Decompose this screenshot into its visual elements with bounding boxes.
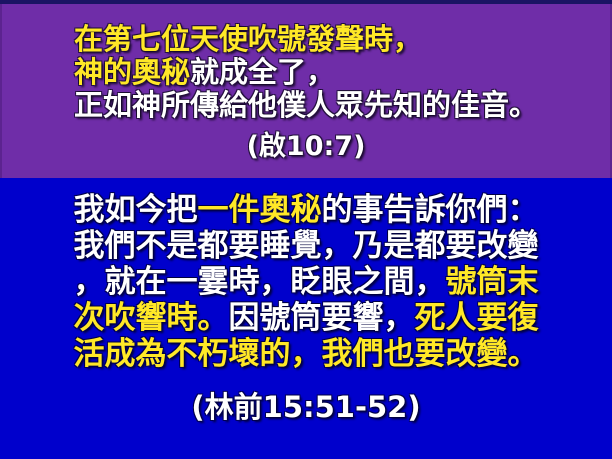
corinthians-verse-text: 我如今把一件奧秘的事告訴你們：我們不是都要睡覺，乃是都要改變，就在一霎時，眨眼之… <box>74 190 539 375</box>
corinthians-verse-segment: 一件奧秘 <box>198 192 322 228</box>
revelation-verse-line: 正如神所傳給他僕人眾先知的佳音。 <box>74 91 538 120</box>
corinthians-verse-line: 我們不是都要睡覺，乃是都要改變 <box>74 231 539 262</box>
corinthians-verse-segment: 我們不是都要睡覺，乃是都要改變 <box>74 228 539 264</box>
corinthians-verse-line: ，就在一霎時，眨眼之間，號筒末 <box>74 267 539 298</box>
corinthians-verse-segment: 活成為不朽壞的，我們也要改變。 <box>74 336 539 372</box>
revelation-verse-segment: 正如神所傳給他僕人眾先知的佳音。 <box>74 88 538 122</box>
revelation-verse-segment: 神的奧秘 <box>74 55 190 89</box>
corinthians-citation: (林前15:51-52) <box>191 393 420 422</box>
corinthians-verse-line: 活成為不朽壞的，我們也要改變。 <box>74 339 539 370</box>
revelation-verse-line: 神的奧秘就成全了， <box>74 58 538 87</box>
corinthians-verse-segment: 次吹響時。 <box>74 300 229 336</box>
corinthians-verse-segment: ，就在一霎時，眨眼之間， <box>74 264 446 300</box>
revelation-citation: (啟10:7) <box>247 133 366 160</box>
scripture-slide: 在第七位天使吹號發聲時，神的奧秘就成全了，正如神所傳給他僕人眾先知的佳音。 (啟… <box>0 0 612 459</box>
corinthians-verse-segment: 因號筒要響， <box>229 300 415 336</box>
corinthians-verse-segment: 的事告訴你們： <box>322 192 539 228</box>
corinthians-verse-line: 次吹響時。因號筒要響，死人要復 <box>74 303 539 334</box>
corinthians-verse-segment: 我如今把 <box>74 192 198 228</box>
corinthians-verse-segment: 號筒末 <box>446 264 539 300</box>
revelation-verse-line: 在第七位天使吹號發聲時， <box>74 25 538 54</box>
corinthians-verse-line: 我如今把一件奧秘的事告訴你們： <box>74 195 539 226</box>
revelation-verse-text: 在第七位天使吹號發聲時，神的奧秘就成全了，正如神所傳給他僕人眾先知的佳音。 <box>74 21 538 124</box>
corinthians-verse-segment: 死人要復 <box>415 300 539 336</box>
revelation-verse-segment: 就成全了， <box>190 55 335 89</box>
corinthians-panel: 我如今把一件奧秘的事告訴你們：我們不是都要睡覺，乃是都要改變，就在一霎時，眨眼之… <box>0 178 612 459</box>
revelation-verse-segment: 在第七位天使吹號發聲時， <box>74 22 422 56</box>
revelation-panel: 在第七位天使吹號發聲時，神的奧秘就成全了，正如神所傳給他僕人眾先知的佳音。 (啟… <box>0 4 612 178</box>
